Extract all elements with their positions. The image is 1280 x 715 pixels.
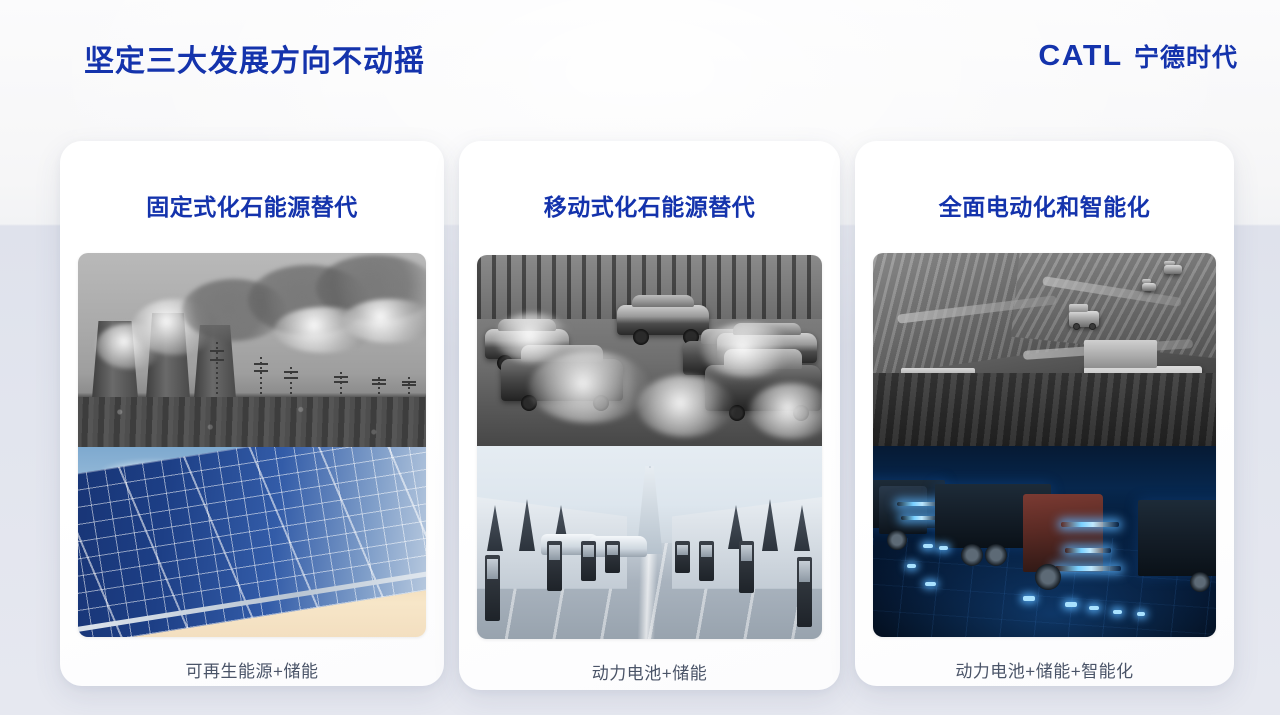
card-caption: 动力电池+储能 xyxy=(592,659,707,684)
card-caption: 动力电池+储能+智能化 xyxy=(955,657,1133,682)
card-media-stack xyxy=(477,255,822,639)
slide-header: 坚定三大发展方向不动摇 CATL 宁德时代 xyxy=(0,0,1280,110)
card-stationary-fossil-replacement[interactable]: 固定式化石能源替代 xyxy=(60,141,444,686)
card-media-stack xyxy=(873,253,1216,637)
card-full-electrification-intelligence[interactable]: 全面电动化和智能化 xyxy=(855,141,1234,686)
smart-electric-trucks-image xyxy=(873,446,1216,637)
brand-chinese-text: 宁德时代 xyxy=(1134,38,1238,74)
cards-row: 固定式化石能源替代 xyxy=(0,141,1280,701)
traffic-jam-image xyxy=(477,255,822,446)
card-title: 全面电动化和智能化 xyxy=(939,188,1151,222)
card-title: 移动式化石能源替代 xyxy=(544,188,756,222)
card-media-stack xyxy=(78,253,426,637)
brand-latin-text: CATL xyxy=(1038,40,1122,73)
card-title: 固定式化石能源替代 xyxy=(146,188,358,222)
coal-power-plant-image xyxy=(78,253,426,447)
page-title: 坚定三大发展方向不动摇 xyxy=(84,36,425,80)
card-mobile-fossil-replacement[interactable]: 移动式化石能源替代 xyxy=(459,141,840,690)
card-caption: 可再生能源+储能 xyxy=(186,657,319,682)
catl-logo: CATL 宁德时代 xyxy=(1040,38,1238,74)
ev-charging-station-image xyxy=(477,446,822,639)
solar-panels-image xyxy=(78,447,426,637)
open-pit-mine-image xyxy=(873,253,1216,446)
